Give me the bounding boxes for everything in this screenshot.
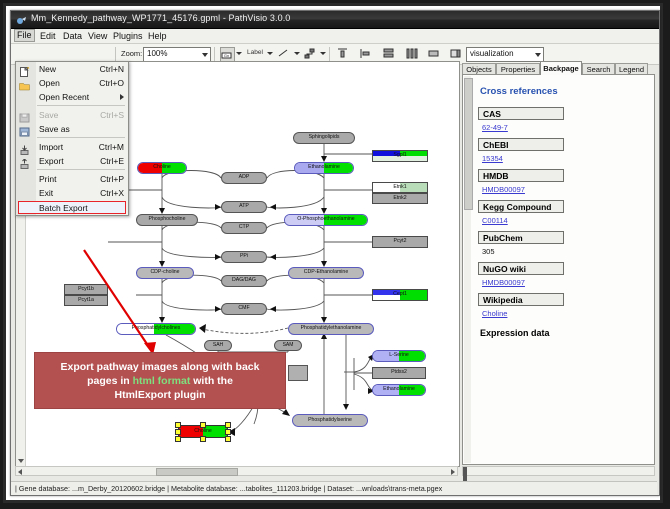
- cross-references-heading: Cross references: [480, 86, 648, 97]
- align-top-icon[interactable]: [336, 47, 349, 60]
- menu-item-save-accel: Ctrl+S: [100, 110, 124, 120]
- xref-value-kegg[interactable]: C00114: [482, 216, 648, 225]
- callout-line-3: HtmlExport plugin: [115, 388, 206, 402]
- menu-item-print-label: Print: [39, 174, 56, 184]
- title-bar: Mm_Kennedy_pathway_WP1771_45176.gpml - P…: [11, 11, 659, 29]
- xref-box-hmdb: HMDB: [478, 169, 564, 182]
- toolbar-separator-2: [214, 47, 215, 61]
- xref-value-cas[interactable]: 62-49-7: [482, 123, 648, 132]
- menu-item-batch-export[interactable]: Batch Export: [16, 200, 128, 215]
- label-tool-label[interactable]: Label: [247, 49, 263, 56]
- chevron-down-icon: [202, 53, 208, 57]
- xref-box-nugo: NuGO wiki: [478, 262, 564, 275]
- xref-label-hmdb: HMDB: [479, 171, 509, 181]
- menu-item-open-accel: Ctrl+O: [99, 78, 124, 88]
- xref-label-chebi: ChEBI: [479, 140, 509, 150]
- folder-open-icon: [19, 78, 30, 88]
- callout-line2-b: with the: [190, 375, 233, 387]
- menu-item-batch-export-label: Batch Export: [39, 203, 88, 213]
- xref-label-pubchem: PubChem: [479, 233, 523, 243]
- status-bar: | Gene database: ...m_Derby_20120602.bri…: [11, 481, 657, 495]
- line-dropdown-icon[interactable]: [294, 52, 300, 55]
- callout-highlight: html format: [133, 375, 191, 387]
- zoom-combo[interactable]: 100%: [143, 47, 211, 62]
- menu-file[interactable]: File: [14, 29, 35, 42]
- import-icon: [19, 142, 30, 152]
- toolbar-separator-3: [329, 47, 330, 61]
- zoom-label: Zoom:: [121, 49, 142, 58]
- menu-item-import[interactable]: Import Ctrl+M: [16, 140, 128, 154]
- pathvisio-icon: [16, 14, 27, 25]
- menu-edit[interactable]: Edit: [37, 30, 59, 43]
- menu-item-save-as[interactable]: Save as: [16, 122, 128, 136]
- xref-value-pubchem: 305: [482, 247, 648, 256]
- right-side-panel: Objects Properties Backpage Search Legen…: [462, 61, 655, 465]
- annotation-callout: Export pathway images along with back pa…: [34, 352, 286, 409]
- horizontal-scroll-thumb[interactable]: [156, 468, 238, 476]
- group-icon[interactable]: [427, 47, 440, 60]
- menu-item-open-recent[interactable]: Open Recent: [16, 90, 128, 104]
- expression-data-heading: Expression data: [480, 328, 648, 338]
- zoom-value: 100%: [147, 49, 167, 58]
- xref-box-cas: CAS: [478, 107, 564, 120]
- callout-line-2: pages in html format with the: [87, 374, 233, 388]
- menu-help[interactable]: Help: [145, 30, 170, 43]
- window-title: Mm_Kennedy_pathway_WP1771_45176.gpml - P…: [31, 13, 290, 23]
- interaction-tool-button[interactable]: [303, 47, 316, 60]
- interaction-dropdown-icon[interactable]: [320, 52, 326, 55]
- backpage-scrollbar[interactable]: [464, 76, 471, 463]
- datanode-tool-button[interactable]: Gn: [220, 47, 235, 62]
- menu-item-new[interactable]: New Ctrl+N: [16, 62, 128, 76]
- submenu-arrow-icon: [120, 94, 124, 100]
- xref-value-chebi[interactable]: 15354: [482, 154, 648, 163]
- scroll-left-arrow-icon[interactable]: [18, 469, 22, 475]
- save-as-icon: [19, 124, 30, 134]
- label-dropdown-icon[interactable]: [267, 52, 273, 55]
- xref-value-hmdb[interactable]: HMDB00097: [482, 185, 648, 194]
- callout-line-1: Export pathway images along with back: [61, 360, 260, 374]
- align-left-icon[interactable]: [359, 47, 372, 60]
- distribute-icon[interactable]: [405, 47, 418, 60]
- menu-item-print[interactable]: Print Ctrl+P: [16, 172, 128, 186]
- menu-data[interactable]: Data: [60, 30, 85, 43]
- menu-view[interactable]: View: [85, 30, 110, 43]
- xref-label-kegg: Kegg Compound: [479, 202, 551, 212]
- menu-item-open[interactable]: Open Ctrl+O: [16, 76, 128, 90]
- backpage-body: Cross references CAS 62-49-7 ChEBI 15354…: [462, 74, 655, 465]
- chevron-down-icon-2: [535, 53, 541, 57]
- menu-bar: File Edit Data View Plugins Help: [11, 29, 659, 44]
- xref-label-cas: CAS: [479, 109, 501, 119]
- menu-item-open-recent-label: Open Recent: [39, 92, 89, 102]
- menu-item-new-accel: Ctrl+N: [100, 64, 124, 74]
- status-bar-text: | Gene database: ...m_Derby_20120602.bri…: [15, 484, 442, 493]
- panel-tab-bar: Objects Properties Backpage Search Legen…: [462, 61, 655, 75]
- menu-item-print-accel: Ctrl+P: [100, 174, 124, 184]
- callout-line2-a: pages in: [87, 375, 133, 387]
- new-document-icon: [19, 64, 30, 74]
- visualization-combo[interactable]: visualization: [466, 47, 544, 62]
- svg-text:Gn: Gn: [224, 53, 229, 58]
- menu-item-open-label: Open: [39, 78, 60, 88]
- datanode-dropdown-icon[interactable]: [236, 52, 242, 55]
- xref-label-nugo: NuGO wiki: [479, 264, 526, 274]
- menu-item-export[interactable]: Export Ctrl+E: [16, 154, 128, 168]
- panel-horizontal-scrollbar[interactable]: [462, 466, 655, 476]
- stack-vertical-icon[interactable]: [382, 47, 395, 60]
- xref-value-nugo[interactable]: HMDB00097: [482, 278, 648, 287]
- menu-item-exit-accel: Ctrl+X: [100, 188, 124, 198]
- xref-box-pubchem: PubChem: [478, 231, 564, 244]
- menu-item-import-accel: Ctrl+M: [99, 142, 124, 152]
- xref-box-kegg: Kegg Compound: [478, 200, 564, 213]
- toolbar-separator: [115, 47, 116, 61]
- line-tool-button[interactable]: [277, 47, 290, 60]
- xref-label-wikipedia: Wikipedia: [479, 295, 523, 305]
- menu-item-export-accel: Ctrl+E: [100, 156, 124, 166]
- xref-value-wikipedia[interactable]: Choline: [482, 309, 648, 318]
- file-dropdown-menu[interactable]: New Ctrl+N Open Ctrl+O Open Recent Save: [15, 61, 129, 216]
- tab-backpage[interactable]: Backpage: [540, 61, 582, 75]
- save-disk-icon: [19, 110, 30, 120]
- backpage-content: Cross references CAS 62-49-7 ChEBI 15354…: [472, 75, 654, 464]
- menu-item-exit-label: Exit: [39, 188, 53, 198]
- menu-item-save: Save Ctrl+S: [16, 108, 128, 122]
- pathvisio-window: Mm_Kennedy_pathway_WP1771_45176.gpml - P…: [10, 10, 660, 496]
- xref-box-chebi: ChEBI: [478, 138, 564, 151]
- xref-box-wikipedia: Wikipedia: [478, 293, 564, 306]
- menu-item-exit[interactable]: Exit Ctrl+X: [16, 186, 128, 200]
- scroll-right-arrow-icon[interactable]: [451, 469, 455, 475]
- menu-plugins[interactable]: Plugins: [110, 30, 146, 43]
- export-icon: [19, 156, 30, 166]
- menu-item-save-as-label: Save as: [39, 124, 70, 134]
- menu-item-new-label: New: [39, 64, 56, 74]
- menu-item-import-label: Import: [39, 142, 63, 152]
- menu-item-save-label: Save: [39, 110, 58, 120]
- screenshot-root: Mm_Kennedy_pathway_WP1771_45176.gpml - P…: [0, 0, 670, 509]
- visualization-value: visualization: [470, 49, 514, 58]
- canvas-horizontal-scrollbar[interactable]: [15, 466, 458, 476]
- menu-item-export-label: Export: [39, 156, 64, 166]
- order-icon[interactable]: [449, 47, 462, 60]
